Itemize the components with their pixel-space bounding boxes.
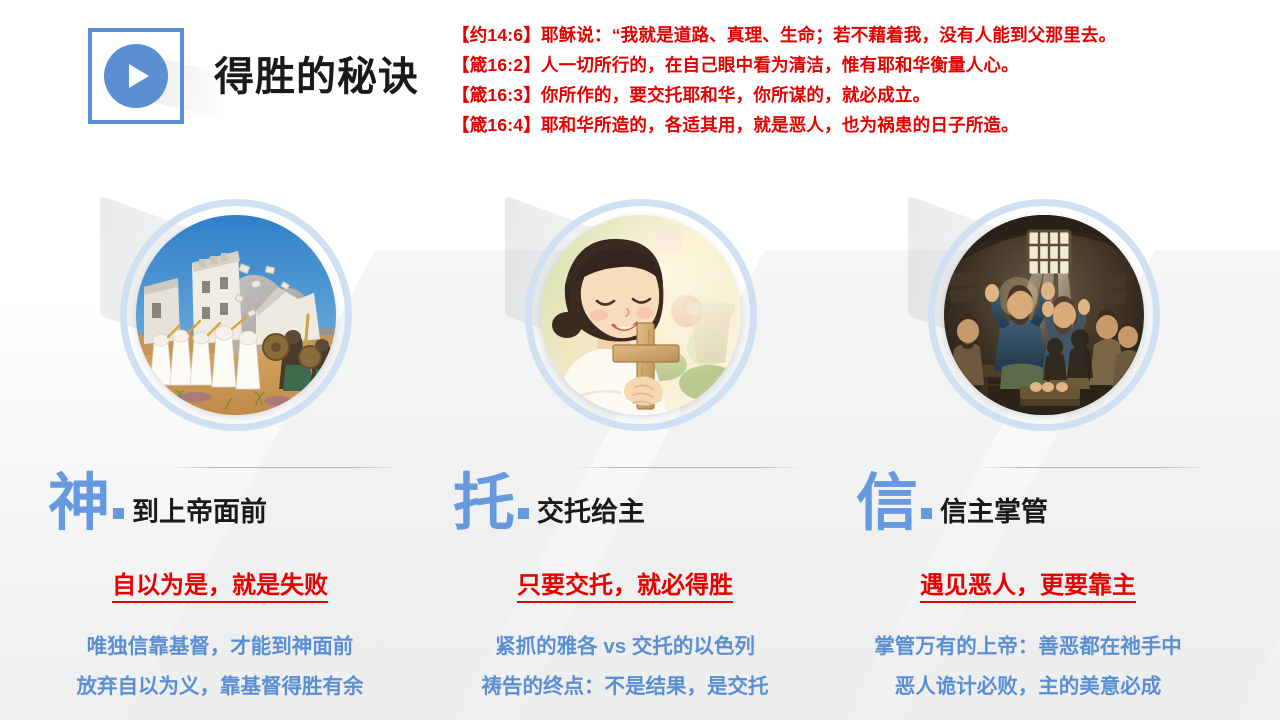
column-body: 紧抓的雅各 vs 交托的以色列 祷告的终点：不是结果，是交托 (425, 627, 825, 707)
column-divider (978, 467, 1206, 468)
column-body: 唯独信靠基督，才能到神面前 放弃自以为义，靠基督得胜有余 (20, 627, 420, 707)
content-column: 信 信主掌管 遇见恶人，更要靠主 掌管万有的上帝：善恶都在祂手中 恶人诡计必败，… (828, 175, 1228, 720)
slide-header: 得胜的秘诀 【约14:6】耶稣说：“我就是道路、真理、生命；若不藉着我，没有人能… (0, 0, 1280, 170)
content-column: 神 到上帝面前 自以为是，就是失败 唯独信靠基督，才能到神面前 放弃自以为义，靠… (20, 175, 420, 720)
column-slogan: 自以为是，就是失败 (20, 565, 420, 600)
body-line: 唯独信靠基督，才能到神面前 (20, 627, 420, 667)
column-subheading: 到上帝面前 (132, 490, 267, 529)
body-line: 放弃自以为义，靠基督得胜有余 (20, 667, 420, 707)
column-heading: 托 交托给主 (453, 473, 825, 535)
photo-image (541, 215, 741, 415)
body-line: 紧抓的雅各 vs 交托的以色列 (425, 627, 825, 667)
column-body: 掌管万有的上帝：善恶都在祂手中 恶人诡计必败，主的美意必成 (828, 627, 1228, 707)
page-title: 得胜的秘诀 (214, 44, 419, 102)
column-heading: 神 到上帝面前 (48, 473, 420, 535)
column-big-character: 信 (856, 473, 932, 535)
column-subheading: 交托给主 (537, 490, 645, 529)
scripture-verse: 【箴16:2】人一切所行的，在自己眼中看为清洁，惟有耶和华衡量人心。 (452, 50, 1252, 80)
heading-dot (113, 508, 124, 519)
photo-image (136, 215, 336, 415)
column-divider (575, 467, 803, 468)
paul-and-silas-in-prison-photo (928, 199, 1160, 431)
walls-of-jericho-photo (120, 199, 352, 431)
content-column: 托 交托给主 只要交托，就必得胜 紧抓的雅各 vs 交托的以色列 祷告的终点：不… (425, 175, 825, 720)
column-heading: 信 信主掌管 (856, 473, 1228, 535)
play-triangle-icon (104, 44, 168, 108)
body-line: 祷告的终点：不是结果，是交托 (425, 667, 825, 707)
column-slogan: 只要交托，就必得胜 (425, 565, 825, 600)
column-slogan: 遇见恶人，更要靠主 (828, 565, 1228, 600)
column-big-character: 神 (48, 473, 124, 535)
scripture-verse-list: 【约14:6】耶稣说：“我就是道路、真理、生命；若不藉着我，没有人能到父那里去。… (452, 20, 1252, 140)
play-button-in-square-icon (88, 28, 184, 124)
scripture-verse: 【箴16:4】耶和华所造的，各适其用，就是恶人，也为祸患的日子所造。 (452, 110, 1252, 140)
photo-image (944, 215, 1144, 415)
scripture-verse: 【箴16:3】你所作的，要交托耶和华，你所谋的，就必成立。 (452, 80, 1252, 110)
column-divider (170, 467, 398, 468)
child-holding-cross-photo (525, 199, 757, 431)
body-line: 恶人诡计必败，主的美意必成 (828, 667, 1228, 707)
heading-dot (518, 508, 529, 519)
column-subheading: 信主掌管 (940, 490, 1048, 529)
body-line: 掌管万有的上帝：善恶都在祂手中 (828, 627, 1228, 667)
column-big-character: 托 (453, 473, 529, 535)
heading-dot (921, 508, 932, 519)
scripture-verse: 【约14:6】耶稣说：“我就是道路、真理、生命；若不藉着我，没有人能到父那里去。 (452, 20, 1252, 50)
content-columns: 神 到上帝面前 自以为是，就是失败 唯独信靠基督，才能到神面前 放弃自以为义，靠… (0, 175, 1280, 720)
